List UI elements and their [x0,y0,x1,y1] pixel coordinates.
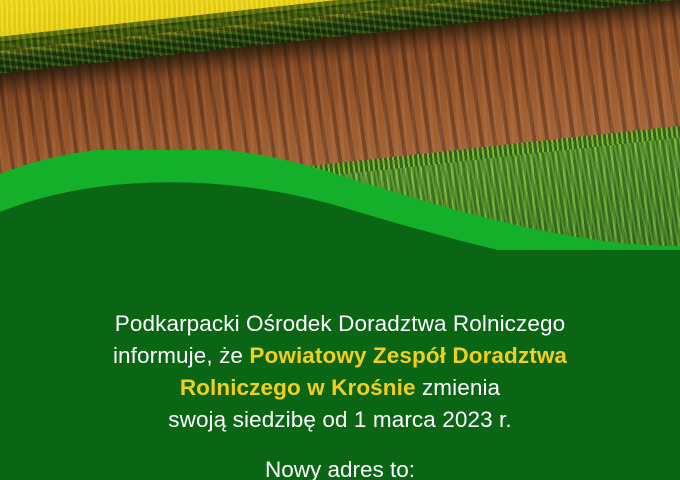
announcement-line-3-highlight: Rolniczego w Krośnie [180,375,416,400]
announcement-panel: Podkarpacki Ośrodek Doradztwa Rolniczego… [0,250,680,480]
announcement-line-2-prefix: informuje, że [113,343,249,368]
announcement-line-1: Podkarpacki Ośrodek Doradztwa Rolniczego [0,308,680,340]
announcement-line-3-suffix: zmienia [416,375,501,400]
announcement-line-2: informuje, że Powiatowy Zespół Doradztwa [0,340,680,372]
announcement-line-5-partial: Nowy adres to: [0,454,680,480]
announcement-text: Podkarpacki Ośrodek Doradztwa Rolniczego… [0,308,680,436]
announcement-line-3: Rolniczego w Krośnie zmienia [0,372,680,404]
poster: Podkarpacki Ośrodek Doradztwa Rolniczego… [0,0,680,480]
announcement-line-2-highlight: Powiatowy Zespół Doradztwa [249,343,567,368]
announcement-line-4: swoją siedzibę od 1 marca 2023 r. [0,404,680,436]
